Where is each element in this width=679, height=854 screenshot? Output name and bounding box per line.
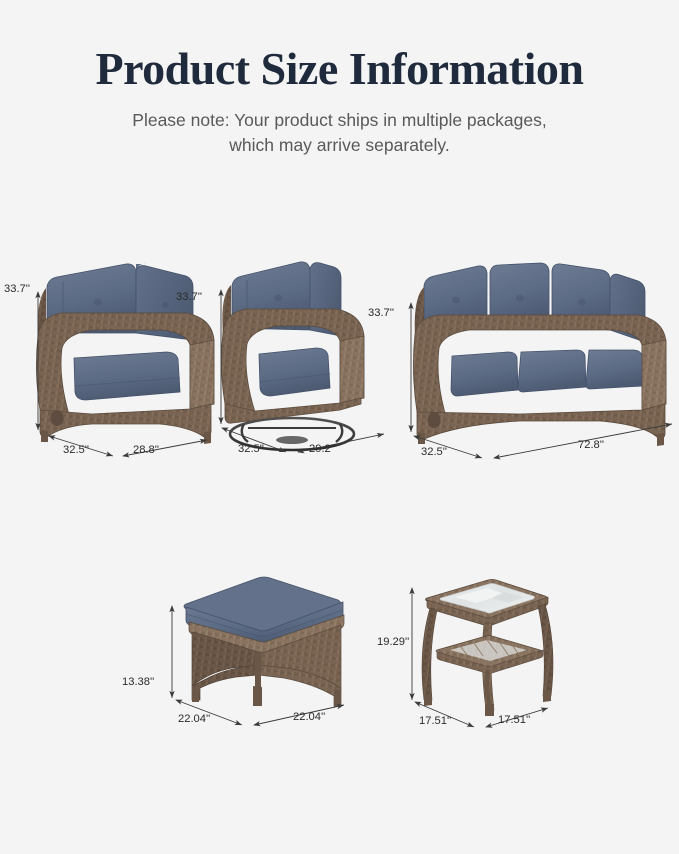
- ottoman-center-post: [255, 652, 261, 690]
- product-diagrams-svg: 33.7'' 32.5'' 28.8'': [0, 0, 679, 849]
- lounge-chair-leg-right: [204, 431, 211, 444]
- product-size-information-page: Product Size Information Please note: Yo…: [0, 0, 679, 849]
- lounge-chair-depth-label: 32.5'': [63, 444, 89, 456]
- lounge-chair-dimension-depth: 32.5'': [49, 436, 113, 456]
- swivel-chair-dimension-depth: 32.5'': [222, 428, 286, 455]
- swivel-chair-tuft-1: [274, 295, 282, 302]
- sofa-depth-label: 32.5'': [421, 446, 447, 458]
- side-table-foot-left: [424, 696, 432, 706]
- sofa-seat-cushion-2: [518, 350, 586, 392]
- sofa-dimension-height: 33.7'': [368, 303, 411, 432]
- ottoman-leg-right: [334, 689, 341, 707]
- side-table-foot-right: [543, 692, 551, 702]
- sofa-scroll-foot: [428, 412, 441, 428]
- lounge-chair-width-label: 28.8'': [133, 444, 159, 456]
- sofa-right-arm: [642, 340, 666, 410]
- ottoman-depth-label: 22.04'': [178, 713, 210, 725]
- sofa-tuft-2: [516, 295, 524, 302]
- ottoman-dimension-height: 13.38'': [122, 606, 172, 698]
- sofa-dimension-width: 72.8'': [494, 424, 672, 458]
- side-table-dimension-height: 19.29'': [377, 588, 412, 700]
- lounge-chair-leg-left: [41, 430, 48, 442]
- ottoman-height-label: 13.38'': [122, 676, 154, 688]
- ottoman-width-label: 22.04'': [293, 711, 325, 723]
- side-table-depth-label: 17.51'': [419, 715, 451, 727]
- product-sofa: 33.7'' 32.5'' 72.8'': [368, 263, 672, 458]
- sofa-dimension-depth: 32.5'': [414, 436, 482, 458]
- swivel-chair-depth-label: 32.5'': [238, 443, 264, 455]
- side-table-width-label: 17.51'': [498, 714, 530, 726]
- swivel-chair-height-label: 33.7'': [176, 291, 202, 303]
- ottoman-leg-left: [192, 686, 199, 702]
- sofa-tuft-1: [452, 297, 460, 304]
- swivel-chair-seat-cushion: [259, 348, 330, 396]
- side-table-height-label: 19.29'': [377, 636, 409, 648]
- sofa-seat-cushion-3: [586, 350, 643, 389]
- product-diagram-area: 33.7'' 32.5'' 28.8'': [0, 0, 679, 849]
- lounge-chair-dimension-width: 28.8'': [123, 440, 207, 456]
- sofa-width-label: 72.8'': [578, 439, 604, 451]
- sofa-height-label: 33.7'': [368, 307, 394, 319]
- ottoman-dimension-depth: 22.04'': [176, 700, 242, 725]
- side-table-leg-back-left: [422, 608, 437, 700]
- swivel-chair-right-arm: [340, 336, 364, 404]
- lounge-chair-tuft-1: [94, 299, 102, 306]
- product-side-table: 19.29'' 17.51'' 17.51'': [377, 580, 553, 728]
- lounge-chair-height-label: 33.7'': [4, 283, 30, 295]
- sofa-leg-right: [657, 433, 664, 446]
- lounge-chair-dimension-height: 33.7'': [4, 283, 38, 430]
- product-ottoman: 13.38'' 22.04'' 22.04'': [122, 577, 344, 725]
- swivel-chair-width-label: 29.2'': [309, 443, 335, 455]
- lounge-chair-tuft-2: [161, 302, 168, 308]
- lounge-chair-scroll-foot: [51, 410, 64, 426]
- sofa-base-skirt: [417, 404, 665, 439]
- sofa-tuft-3: [578, 299, 586, 306]
- lounge-chair-seat-cushion: [74, 352, 180, 400]
- ottoman-leg-front: [253, 686, 262, 706]
- lounge-chair-right-arm: [190, 340, 214, 410]
- side-table-dimension-width: 17.51'': [486, 708, 548, 727]
- side-table-foot-front: [485, 704, 494, 716]
- sofa-seat-cushion-1: [451, 352, 518, 396]
- ottoman-dimension-width: 22.04'': [254, 705, 344, 725]
- side-table-dimension-depth: 17.51'': [415, 702, 474, 727]
